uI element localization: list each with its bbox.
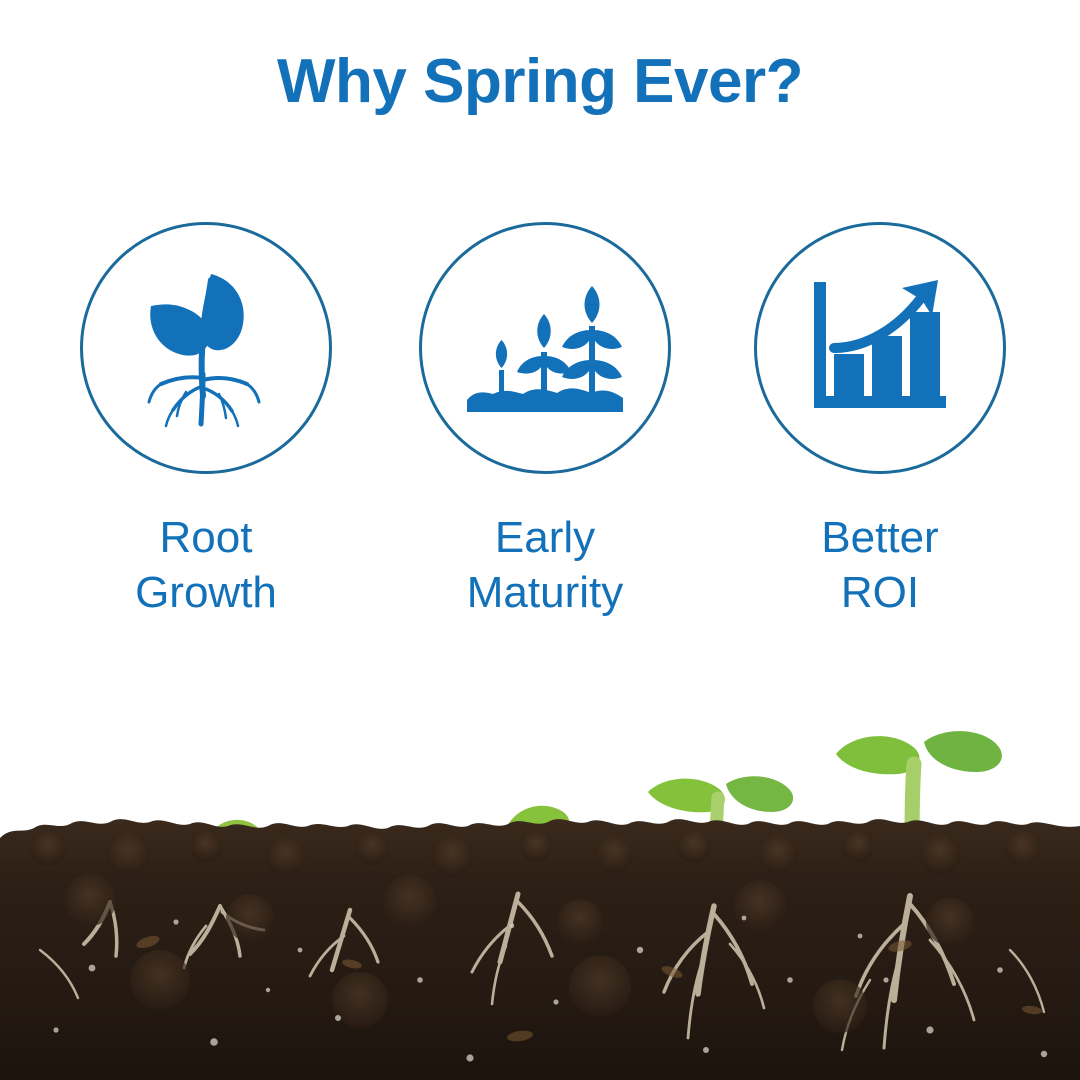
feature-icon-circle [419, 222, 671, 474]
feature-icon-circle [754, 222, 1006, 474]
feature-icon-circle [80, 222, 332, 474]
feature-label: Early Maturity [395, 510, 695, 621]
page-title: Why Spring Ever? [0, 46, 1080, 117]
feature-label-line1: Early [495, 513, 595, 562]
growth-stages-plants-icon [461, 278, 629, 418]
feature-item-root-growth[interactable]: Root Growth [56, 222, 356, 621]
feature-label-line2: ROI [730, 565, 1030, 620]
feature-label-line2: Maturity [395, 565, 695, 620]
feature-row: Root Growth [0, 222, 1080, 642]
soil-cross-section [0, 810, 1080, 1080]
feature-label-line1: Better [821, 513, 938, 562]
bar-chart-growth-arrow-icon [806, 278, 954, 418]
seedling-soil-photo [0, 650, 1080, 1080]
poster-canvas: Why Spring Ever? [0, 0, 1080, 1080]
feature-item-early-maturity[interactable]: Early Maturity [395, 222, 695, 621]
feature-item-better-roi[interactable]: Better ROI [730, 222, 1030, 621]
feature-label-line2: Growth [56, 565, 356, 620]
sprout-with-roots-icon [131, 266, 281, 431]
feature-label: Better ROI [730, 510, 1030, 621]
feature-label-line1: Root [160, 513, 253, 562]
feature-label: Root Growth [56, 510, 356, 621]
